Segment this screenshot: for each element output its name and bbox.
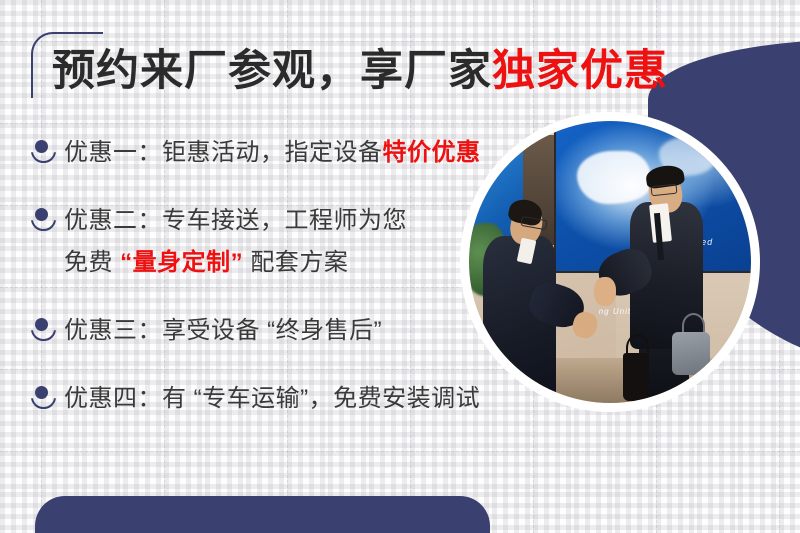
list-item-text: 优惠一：钜惠活动，指定设备特价优惠 xyxy=(64,132,481,174)
list-item-line: 优惠四：有 “专车运输”，免费安装调试 xyxy=(64,378,480,420)
bottom-navy-bar xyxy=(35,496,490,533)
list-item-highlight-segment: “量身定制” xyxy=(120,249,243,276)
list-item-line: 优惠二：专车接送，工程师为您 xyxy=(64,200,407,242)
list-item-text: 优惠二：专车接送，工程师为您 免费 “量身定制” 配套方案 xyxy=(64,200,407,284)
list-item-line: 优惠三：享受设备 “终身售后” xyxy=(64,310,382,352)
list-item-text-segment: 优惠一：钜惠活动，指定设备 xyxy=(64,139,383,166)
page-title-black-part: 预约来厂参观，享厂家 xyxy=(52,47,492,95)
navy-dot-arc-icon xyxy=(30,204,54,234)
handshake-photo: ng United ited xyxy=(460,112,760,412)
navy-dot-arc-icon xyxy=(30,314,54,344)
handshake-photo-inner: ng United ited xyxy=(469,121,751,403)
list-item-highlight-segment: 特价优惠 xyxy=(383,139,481,166)
list-item-text: 优惠四：有 “专车运输”，免费安装调试 xyxy=(64,378,480,420)
list-item: 优惠四：有 “专车运输”，免费安装调试 xyxy=(30,378,500,420)
list-item-text: 优惠三：享受设备 “终身售后” xyxy=(64,310,382,352)
list-item-line: 免费 “量身定制” 配套方案 xyxy=(64,242,407,284)
photo-person-right xyxy=(616,166,734,403)
list-item-text-segment: 优惠四：有 “专车运输”，免费安装调试 xyxy=(64,385,480,412)
list-item: 优惠三：享受设备 “终身售后” xyxy=(30,310,500,352)
list-item: 优惠一：钜惠活动，指定设备特价优惠 xyxy=(30,132,500,174)
promo-poster: 预约来厂参观，享厂家独家优惠 优惠一：钜惠活动，指定设备特价优惠 优惠二：专车接… xyxy=(0,0,800,533)
list-item-text-segment: 免费 xyxy=(64,249,120,276)
list-item-text-segment: 优惠二：专车接送，工程师为您 xyxy=(64,207,407,234)
navy-dot-arc-icon xyxy=(30,382,54,412)
list-item-text-segment: 配套方案 xyxy=(243,249,348,276)
list-item: 优惠二：专车接送，工程师为您 免费 “量身定制” 配套方案 xyxy=(30,200,500,284)
photo-person-left xyxy=(480,200,598,403)
navy-dot-arc-icon xyxy=(30,136,54,166)
page-title-red-part: 独家优惠 xyxy=(492,47,668,95)
list-item-line: 优惠一：钜惠活动，指定设备特价优惠 xyxy=(64,132,481,174)
benefits-list: 优惠一：钜惠活动，指定设备特价优惠 优惠二：专车接送，工程师为您 免费 “量身定… xyxy=(30,132,500,446)
list-item-text-segment: 优惠三：享受设备 “终身售后” xyxy=(64,317,382,344)
page-title: 预约来厂参观，享厂家独家优惠 xyxy=(52,48,668,95)
